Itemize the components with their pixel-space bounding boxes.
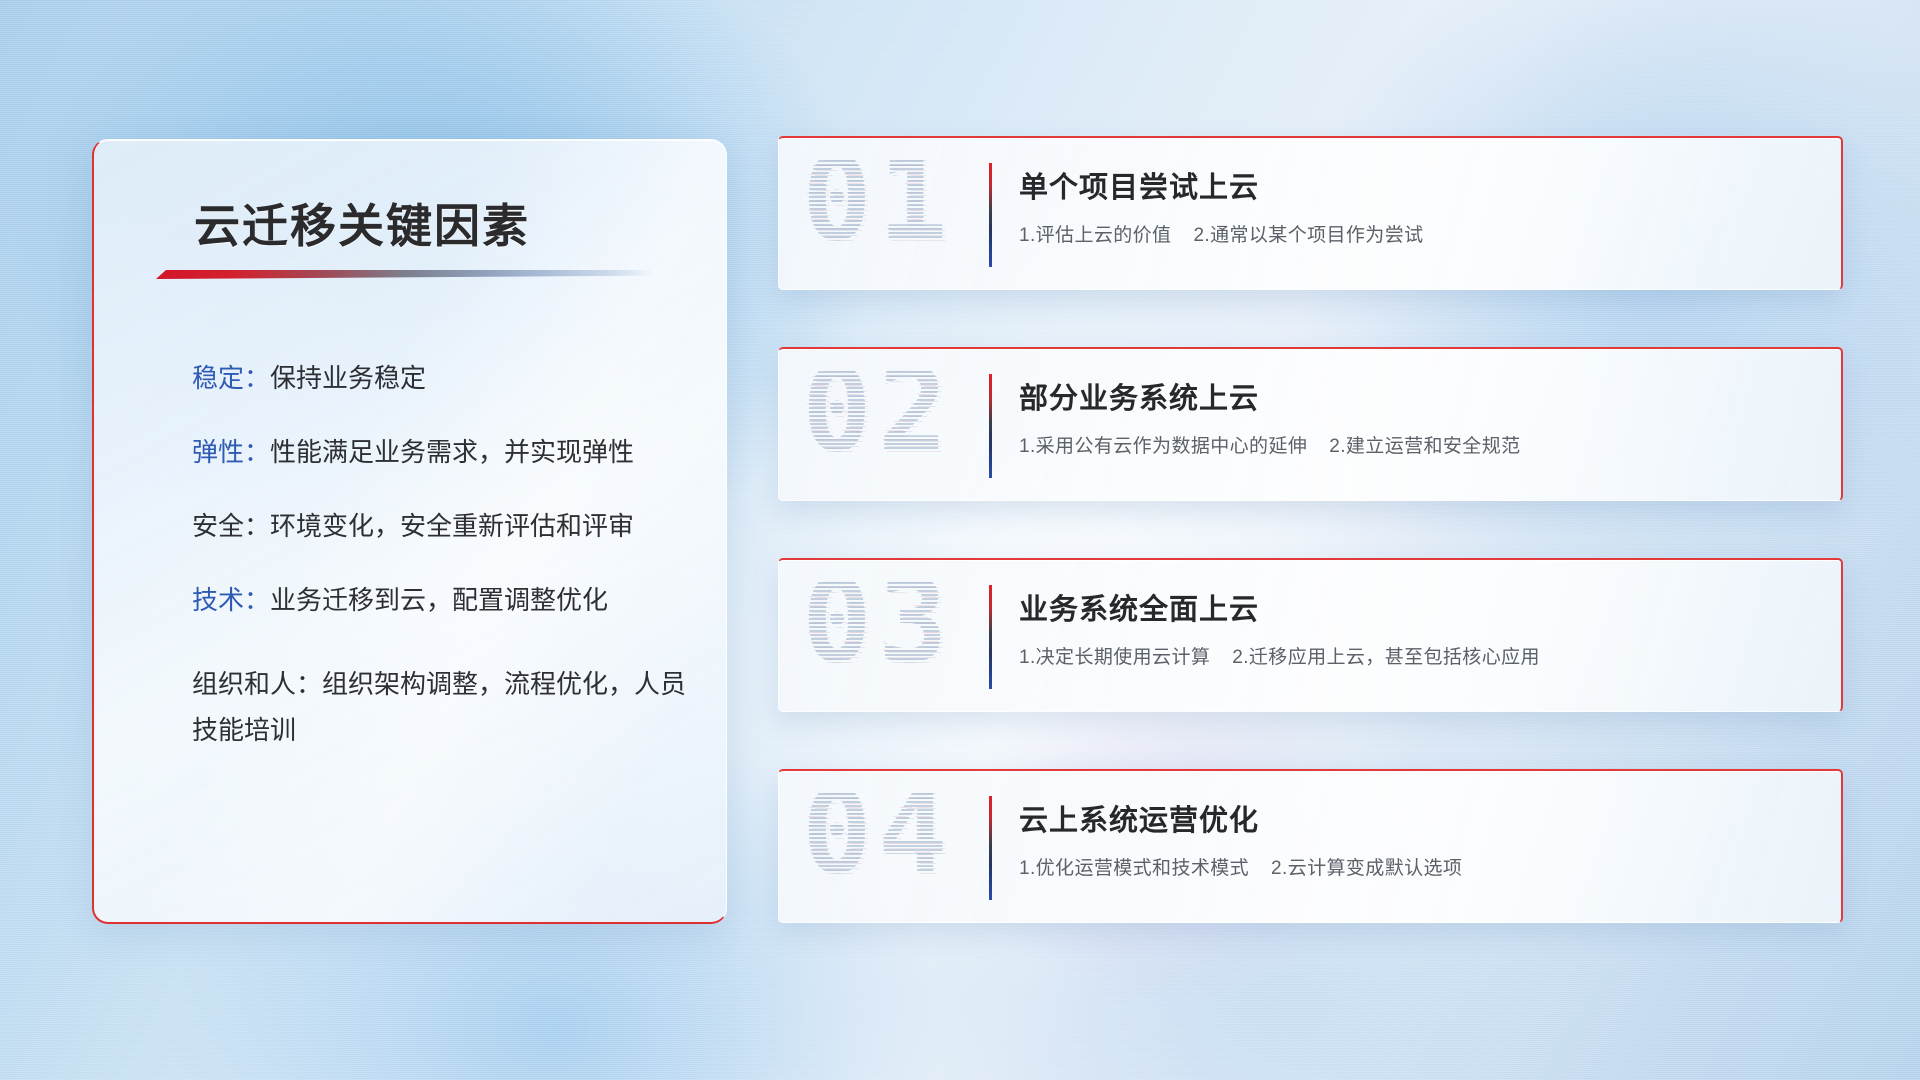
factor-item-technology: 技术：业务迁移到云，配置调整优化 (192, 587, 712, 613)
stage-number-glyph: 04 (802, 791, 954, 891)
stage-number-glyph: 02 (802, 369, 954, 469)
stage-card-03[interactable]: 03 03 03 业务系统全面上云 1.决定长期使用云计算2.迁移应用上云，甚至… (778, 558, 1843, 712)
card-divider-bar (989, 585, 992, 689)
stage-number-04: 04 04 04 (802, 791, 972, 907)
card-point-1: 1.评估上云的价值 (1019, 225, 1171, 246)
card-point-2: 2.通常以某个项目作为尝试 (1193, 225, 1423, 246)
card-title: 云上系统运营优化 (1019, 797, 1259, 839)
slide-stage: 云迁移关键因素 稳定：保持业务稳定 弹性：性能满足业务需求，并实现弹性 安全：环… (0, 0, 1920, 1080)
factor-item-elasticity: 弹性：性能满足业务需求，并实现弹性 (192, 439, 712, 465)
stage-card-01[interactable]: 01 01 01 单个项目尝试上云 1.评估上云的价值2.通常以某个项目作为尝试 (778, 136, 1843, 290)
factor-key: 稳定： (192, 363, 270, 393)
card-subtitle: 1.采用公有云作为数据中心的延伸2.建立运营和安全规范 (1019, 431, 1521, 458)
card-subtitle: 1.评估上云的价值2.通常以某个项目作为尝试 (1019, 220, 1424, 247)
factor-key: 弹性： (192, 437, 270, 467)
key-factors-panel: 云迁移关键因素 稳定：保持业务稳定 弹性：性能满足业务需求，并实现弹性 安全：环… (92, 139, 727, 924)
factor-item-stability: 稳定：保持业务稳定 (192, 365, 712, 391)
factor-text: 保持业务稳定 (270, 363, 426, 393)
factor-key: 安全： (192, 511, 270, 541)
factor-item-organization: 组织和人：组织架构调整，流程优化，人员技能培训 (192, 661, 712, 754)
stage-number-glyph: 01 (802, 158, 954, 258)
card-point-1: 1.采用公有云作为数据中心的延伸 (1019, 436, 1307, 457)
stage-number-02: 02 02 02 (802, 369, 972, 485)
factor-list: 稳定：保持业务稳定 弹性：性能满足业务需求，并实现弹性 安全：环境变化，安全重新… (192, 365, 712, 802)
card-point-1: 1.决定长期使用云计算 (1019, 647, 1210, 668)
factor-key: 组织和人： (192, 669, 322, 699)
stage-card-02[interactable]: 02 02 02 部分业务系统上云 1.采用公有云作为数据中心的延伸2.建立运营… (778, 347, 1843, 501)
card-title: 业务系统全面上云 (1019, 586, 1259, 628)
card-divider-bar (989, 163, 992, 267)
factor-text: 环境变化，安全重新评估和评审 (270, 511, 634, 541)
stage-card-04[interactable]: 04 04 04 云上系统运营优化 1.优化运营模式和技术模式2.云计算变成默认… (778, 769, 1843, 923)
stage-number-glyph: 03 (802, 580, 954, 680)
factor-text: 业务迁移到云，配置调整优化 (270, 585, 608, 615)
card-title: 单个项目尝试上云 (1019, 164, 1259, 206)
card-point-2: 2.迁移应用上云，甚至包括核心应用 (1232, 647, 1540, 668)
migration-stage-cards: 01 01 01 单个项目尝试上云 1.评估上云的价值2.通常以某个项目作为尝试… (778, 136, 1843, 923)
card-point-2: 2.建立运营和安全规范 (1329, 436, 1520, 457)
card-subtitle: 1.决定长期使用云计算2.迁移应用上云，甚至包括核心应用 (1019, 642, 1540, 669)
stage-number-01: 01 01 01 (802, 158, 972, 274)
stage-number-03: 03 03 03 (802, 580, 972, 696)
factor-item-security: 安全：环境变化，安全重新评估和评审 (192, 513, 712, 539)
card-title: 部分业务系统上云 (1019, 375, 1259, 417)
card-subtitle: 1.优化运营模式和技术模式2.云计算变成默认选项 (1019, 853, 1462, 880)
factor-key: 技术： (192, 585, 270, 615)
card-divider-bar (989, 796, 992, 900)
card-divider-bar (989, 374, 992, 478)
panel-title: 云迁移关键因素 (194, 190, 530, 256)
title-underline-accent (156, 270, 654, 279)
card-point-2: 2.云计算变成默认选项 (1271, 858, 1462, 879)
card-point-1: 1.优化运营模式和技术模式 (1019, 858, 1249, 879)
factor-text: 性能满足业务需求，并实现弹性 (270, 437, 634, 467)
